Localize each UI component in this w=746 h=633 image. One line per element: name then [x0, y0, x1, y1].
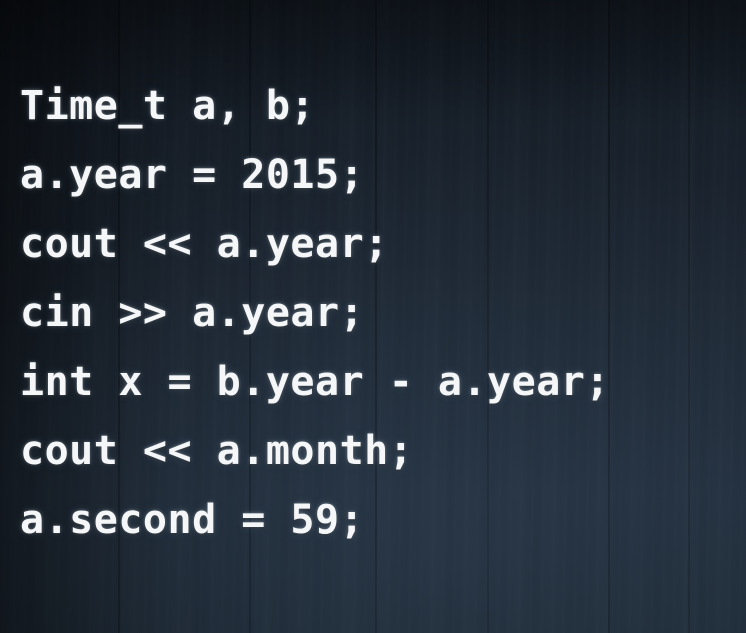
code-line: a.second = 59; [20, 486, 726, 555]
code-line: cout << a.month; [20, 417, 726, 486]
code-block: Time_t a, b; a.year = 2015; cout << a.ye… [20, 72, 726, 555]
code-line: int x = b.year - a.year; [20, 348, 726, 417]
code-slide: Time_t a, b; a.year = 2015; cout << a.ye… [0, 0, 746, 633]
code-line: Time_t a, b; [20, 72, 726, 141]
code-line: cout << a.year; [20, 210, 726, 279]
code-line: cin >> a.year; [20, 279, 726, 348]
code-line: a.year = 2015; [20, 141, 726, 210]
